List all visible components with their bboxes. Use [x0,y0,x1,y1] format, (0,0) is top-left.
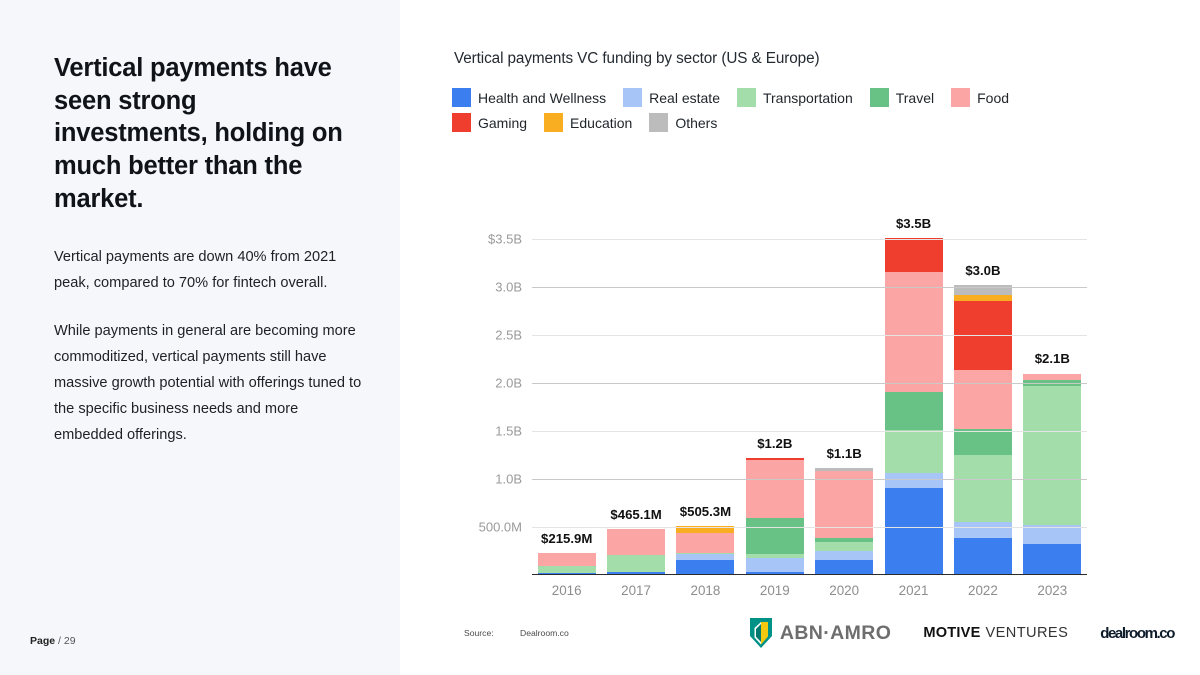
bar-total-label: $465.1M [610,507,661,522]
legend-swatch-icon [649,113,668,132]
ventures-wordmark: VENTURES [986,625,1069,641]
y-axis-tick-label: 1.5B [495,424,522,439]
bar-segment[interactable] [954,429,1012,455]
gridline: 1.5B [532,431,1087,432]
bar-segment[interactable] [815,551,873,560]
y-axis-tick-label: 2.5B [495,328,522,343]
bar-segment[interactable] [538,553,596,566]
bar-segment[interactable] [1023,374,1081,381]
bar-column[interactable]: $1.1B [815,220,873,574]
chart-title: Vertical payments VC funding by sector (… [442,28,1142,68]
chart-legend: Health and WellnessReal estateTransporta… [452,88,1062,132]
legend-item-real-estate[interactable]: Real estate [623,88,720,107]
x-axis-labels: 20162017201820192020202120222023 [532,583,1087,598]
bar-total-label: $215.9M [541,531,592,546]
body-paragraph-2: While payments in general are becoming m… [54,319,369,449]
legend-swatch-icon [951,88,970,107]
x-axis-label: 2018 [676,583,734,598]
chart-card: Vertical payments VC funding by sector (… [442,28,1142,608]
legend-swatch-icon [452,113,471,132]
legend-swatch-icon [737,88,756,107]
x-axis-label: 2023 [1023,583,1081,598]
abn-amro-wordmark: ABN·AMRO [780,622,892,645]
bar-total-label: $1.1B [827,446,862,461]
motive-wordmark: MOTIVE [923,625,980,641]
page-number-separator: / [58,635,61,647]
legend-label: Travel [896,90,934,106]
legend-item-education[interactable]: Education [544,113,632,132]
y-axis-tick-label: 1.0B [495,472,522,487]
page-number-value: 29 [64,635,76,647]
abn-amro-logo: ABN·AMRO [750,618,892,648]
y-axis-tick-label: $3.5B [488,232,522,247]
bar-segment[interactable] [538,566,596,573]
legend-item-health-and-wellness[interactable]: Health and Wellness [452,88,606,107]
bar-segment[interactable] [1023,386,1081,525]
bar-segment[interactable] [607,529,665,554]
legend-label: Real estate [649,90,720,106]
bar-segment[interactable] [885,238,943,272]
bar-segment[interactable] [746,558,804,572]
bar-segment[interactable] [746,460,804,518]
bar-segment[interactable] [885,392,943,430]
y-axis-tick-label: 500.0M [479,520,522,535]
bar-group: $215.9M$465.1M$505.3M$1.2B$1.1B$3.5B$3.0… [532,220,1087,574]
bar-segment[interactable] [885,272,943,392]
logo-group: ABN·AMRO MOTIVE VENTURES dealroom.co [718,618,1182,648]
legend-item-gaming[interactable]: Gaming [452,113,527,132]
y-axis-tick-label: 3.0B [495,280,522,295]
source-block: Source: Dealroom.co [442,628,718,638]
legend-item-others[interactable]: Others [649,113,717,132]
legend-item-food[interactable]: Food [951,88,1009,107]
legend-label: Transportation [763,90,853,106]
bar-total-label: $3.0B [965,263,1000,278]
body-paragraph-1: Vertical payments are down 40% from 2021… [54,245,369,297]
plot-area: $215.9M$465.1M$505.3M$1.2B$1.1B$3.5B$3.0… [532,220,1087,575]
bar-segment[interactable] [815,560,873,574]
x-axis-label: 2021 [885,583,943,598]
page-number: Page / 29 [30,635,76,647]
gridline: $3.5B [532,239,1087,240]
bar-total-label: $2.1B [1035,351,1070,366]
bar-column[interactable]: $505.3M [676,220,734,574]
bar-segment[interactable] [954,455,1012,522]
bar-column[interactable]: $2.1B [1023,220,1081,574]
plot-wrapper: $215.9M$465.1M$505.3M$1.2B$1.1B$3.5B$3.0… [442,168,1142,608]
x-axis-label: 2019 [746,583,804,598]
y-axis-tick-label: 2.0B [495,376,522,391]
motive-ventures-logo: MOTIVE VENTURES [923,625,1068,641]
bar-total-label: $1.2B [757,436,792,451]
gridline: 500.0M [532,527,1087,528]
slide-root: Vertical payments have seen strong inves… [0,0,1200,675]
dealroom-wordmark: dealroom.co [1100,625,1174,642]
bar-segment[interactable] [676,533,734,552]
bar-segment[interactable] [676,560,734,574]
source-value: Dealroom.co [520,628,569,638]
bar-total-label: $3.5B [896,216,931,231]
bar-segment[interactable] [885,430,943,473]
legend-swatch-icon [623,88,642,107]
legend-label: Health and Wellness [478,90,606,106]
page-title: Vertical payments have seen strong inves… [54,52,354,215]
x-axis-label: 2016 [538,583,596,598]
legend-item-travel[interactable]: Travel [870,88,934,107]
legend-item-transportation[interactable]: Transportation [737,88,853,107]
gridline: 2.5B [532,335,1087,336]
bar-column[interactable]: $3.5B [885,220,943,574]
source-label: Source: [464,628,520,638]
legend-swatch-icon [870,88,889,107]
bar-segment[interactable] [746,518,804,554]
bar-segment[interactable] [815,542,873,552]
bar-segment[interactable] [954,538,1012,574]
bar-segment[interactable] [607,555,665,572]
bar-column[interactable]: $1.2B [746,220,804,574]
legend-row: Health and WellnessReal estateTransporta… [452,88,1062,107]
bar-column[interactable]: $3.0B [954,220,1012,574]
legend-label: Food [977,90,1009,106]
bar-segment[interactable] [954,370,1012,429]
legend-row: GamingEducationOthers [452,113,1062,132]
legend-swatch-icon [544,113,563,132]
gridline: 2.0B [532,383,1087,384]
dealroom-logo: dealroom.co [1100,625,1174,642]
bar-segment[interactable] [954,522,1012,537]
gridline: 1.0B [532,479,1087,480]
bar-segment[interactable] [885,488,943,574]
bar-segment[interactable] [1023,544,1081,574]
shield-icon [750,618,772,648]
footer: Source: Dealroom.co ABN·AMRO MOTIVE VENT… [442,609,1182,657]
bar-segment[interactable] [746,572,804,574]
legend-label: Education [570,115,632,131]
gridline: 3.0B [532,287,1087,288]
legend-label: Others [675,115,717,131]
legend-label: Gaming [478,115,527,131]
legend-swatch-icon [452,88,471,107]
bar-segment[interactable] [885,473,943,487]
bar-column[interactable]: $465.1M [607,220,665,574]
x-axis-label: 2022 [954,583,1012,598]
bar-total-label: $505.3M [680,504,731,519]
bar-segment[interactable] [607,572,665,574]
page-number-label: Page [30,635,55,647]
x-axis-label: 2020 [815,583,873,598]
right-chart-panel: Vertical payments VC funding by sector (… [400,0,1200,675]
left-text-panel: Vertical payments have seen strong inves… [0,0,400,675]
bar-column[interactable]: $215.9M [538,220,596,574]
x-axis-label: 2017 [607,583,665,598]
bar-segment[interactable] [538,573,596,574]
